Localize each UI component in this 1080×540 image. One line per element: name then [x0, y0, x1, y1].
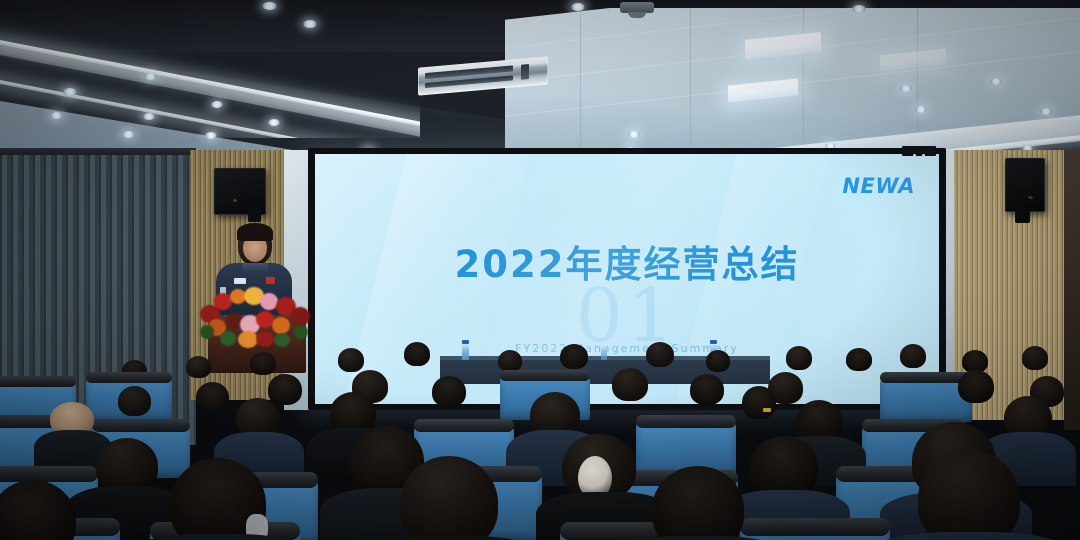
downlight: [211, 101, 223, 108]
audience-area: [0, 330, 1080, 540]
presenter-hair: [237, 223, 273, 241]
audience-head: [900, 344, 926, 368]
downlight: [915, 106, 927, 113]
newa-logo: NEWA: [842, 174, 915, 198]
seat-rail: [86, 372, 172, 383]
audience-head: [742, 386, 776, 419]
presenter-badge: [234, 278, 246, 284]
audience-head: [690, 374, 724, 405]
audience-head: [706, 350, 730, 372]
hair-clip: [763, 408, 771, 412]
wall-speaker-right: [1005, 158, 1045, 212]
seat-rail: [414, 419, 514, 432]
downlight: [571, 3, 585, 11]
audience-head: [560, 344, 588, 369]
downlight: [1040, 108, 1052, 115]
audience-head: [958, 370, 994, 403]
audience-head: [250, 352, 276, 375]
ceiling-cove-left: [0, 18, 420, 138]
downlight: [900, 85, 912, 92]
seat-rail: [0, 466, 98, 482]
downlight: [144, 73, 157, 80]
downlight: [268, 119, 280, 126]
downlight: [628, 131, 640, 138]
seat-rail: [740, 518, 890, 536]
wall-speaker-left-led: [233, 199, 237, 202]
downlight: [143, 113, 155, 120]
slide-title: 2022年度经营总结: [315, 234, 939, 288]
seat-rail: [636, 415, 736, 428]
audience-head-foreground: [918, 450, 1020, 540]
audience-head: [1022, 346, 1048, 370]
seat-rail: [92, 419, 190, 432]
downlight: [852, 5, 866, 13]
audience-head: [118, 386, 151, 416]
audience-head: [750, 436, 818, 498]
downlight: [303, 20, 317, 28]
audience-head: [186, 356, 211, 378]
presenter-lapel-pin: [266, 277, 275, 284]
downlight: [122, 131, 135, 138]
audience-head: [404, 342, 430, 366]
audience-head: [612, 368, 648, 401]
downlight: [50, 112, 63, 119]
screen-control-strip[interactable]: [902, 146, 936, 156]
audience-head: [786, 346, 812, 370]
seat-rail: [0, 376, 76, 387]
audience-head: [268, 374, 302, 405]
seat-rail: [500, 370, 590, 381]
downlight: [205, 132, 217, 139]
audience-head: [432, 376, 466, 407]
presenter-collar: [242, 263, 268, 273]
audience-head: [338, 348, 364, 372]
wall-speaker-right-led: [1028, 196, 1033, 199]
wall-speaker-right-bracket: [1015, 208, 1030, 223]
conference-room-scene: NEWA 01 2022年度经营总结 FY2022 Management Sum…: [0, 0, 1080, 540]
audience-head: [196, 382, 229, 412]
downlight: [63, 88, 77, 96]
audience-head: [646, 342, 674, 367]
downlight: [262, 2, 277, 10]
audience-head: [846, 348, 872, 371]
audience-head-foreground: [400, 456, 498, 540]
downlight: [990, 78, 1002, 85]
audience-head: [498, 350, 522, 372]
